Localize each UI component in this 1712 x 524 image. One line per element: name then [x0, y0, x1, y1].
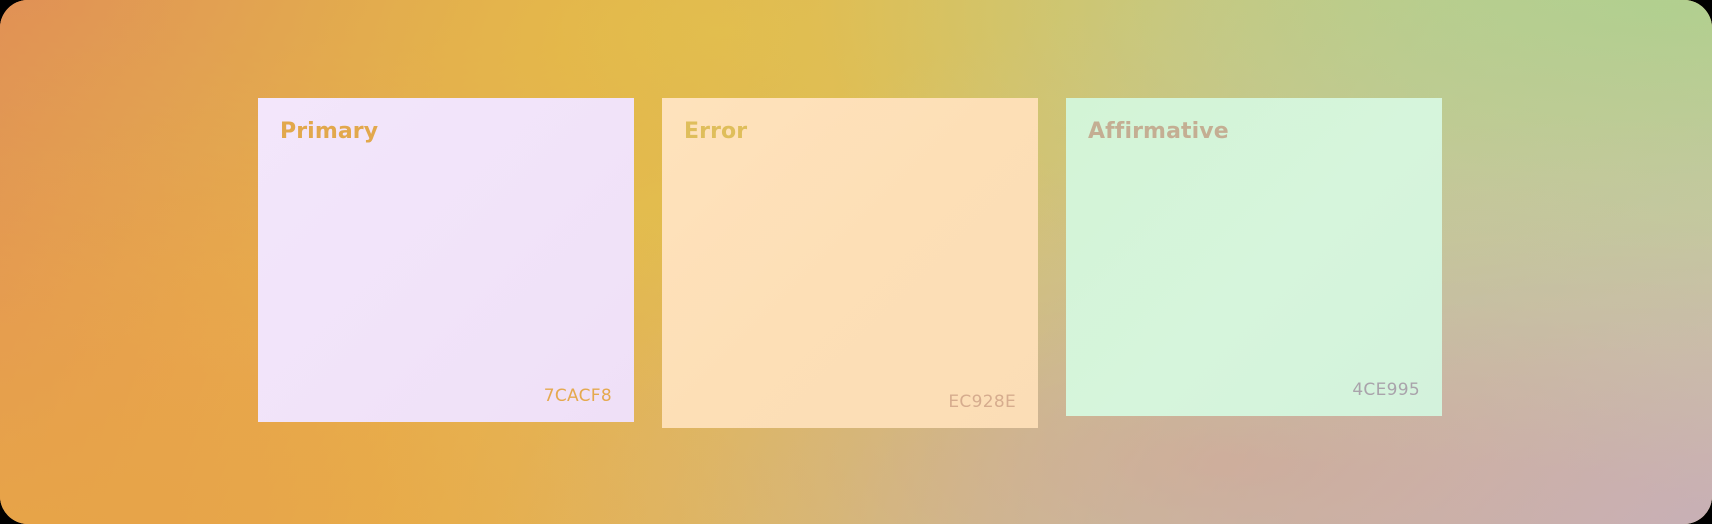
palette-canvas: Primary 7CACF8 Error EC928E Affirmative … — [0, 0, 1712, 524]
color-swatch-row: Primary 7CACF8 Error EC928E Affirmative … — [258, 98, 1442, 428]
color-swatch-affirmative[interactable]: Affirmative 4CE995 — [1066, 98, 1442, 416]
swatch-title: Error — [684, 120, 1016, 144]
swatch-title: Primary — [280, 120, 612, 144]
color-swatch-primary[interactable]: Primary 7CACF8 — [258, 98, 634, 422]
swatch-hex-value: 7CACF8 — [544, 387, 612, 406]
color-swatch-error[interactable]: Error EC928E — [662, 98, 1038, 428]
swatch-hex-value: EC928E — [948, 393, 1016, 412]
swatch-hex-value: 4CE995 — [1352, 381, 1420, 400]
swatch-title: Affirmative — [1088, 120, 1420, 144]
